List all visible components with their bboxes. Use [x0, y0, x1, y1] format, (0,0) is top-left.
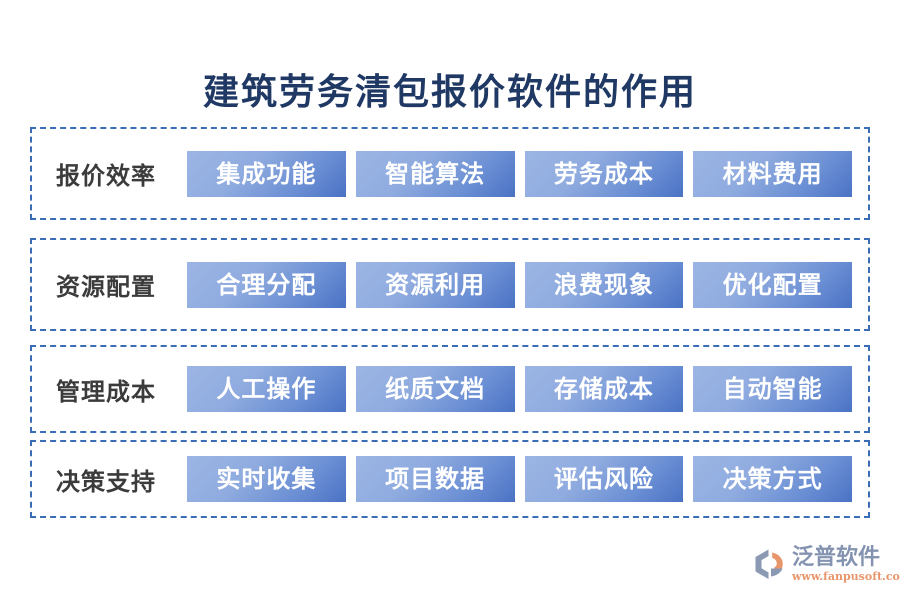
row-group-baojiaxiaolv: 报价效率 集成功能 智能算法 劳务成本 材料费用 — [30, 127, 870, 220]
row-group-guanlichengben: 管理成本 人工操作 纸质文档 存储成本 自动智能 — [30, 345, 870, 433]
row-items: 实时收集 项目数据 评估风险 决策方式 — [187, 456, 868, 502]
item-box[interactable]: 项目数据 — [356, 456, 515, 502]
logo-text: 泛普软件 www.fanpusoft.com — [792, 546, 900, 583]
item-box[interactable]: 智能算法 — [356, 151, 515, 197]
item-box[interactable]: 集成功能 — [187, 151, 346, 197]
row-label: 报价效率 — [32, 156, 187, 191]
item-box[interactable]: 自动智能 — [693, 366, 852, 412]
item-box[interactable]: 优化配置 — [693, 262, 852, 308]
item-box[interactable]: 决策方式 — [693, 456, 852, 502]
row-group-ziyuanpeizhi: 资源配置 合理分配 资源利用 浪费现象 优化配置 — [30, 238, 870, 331]
row-items: 人工操作 纸质文档 存储成本 自动智能 — [187, 366, 868, 412]
fanpu-brand-icon — [752, 546, 788, 582]
page-title: 建筑劳务清包报价软件的作用 — [0, 70, 900, 114]
row-label: 决策支持 — [32, 462, 187, 497]
item-box[interactable]: 合理分配 — [187, 262, 346, 308]
logo-brand-name: 泛普软件 — [792, 546, 900, 570]
row-label: 管理成本 — [32, 372, 187, 407]
item-box[interactable]: 实时收集 — [187, 456, 346, 502]
item-box[interactable]: 纸质文档 — [356, 366, 515, 412]
item-box[interactable]: 存储成本 — [525, 366, 684, 412]
logo-website-url: www.fanpusoft.com — [792, 570, 900, 583]
row-label: 资源配置 — [32, 267, 187, 302]
item-box[interactable]: 评估风险 — [525, 456, 684, 502]
row-items: 合理分配 资源利用 浪费现象 优化配置 — [187, 262, 868, 308]
row-group-juecezhichi: 决策支持 实时收集 项目数据 评估风险 决策方式 — [30, 440, 870, 518]
row-items: 集成功能 智能算法 劳务成本 材料费用 — [187, 151, 868, 197]
item-box[interactable]: 人工操作 — [187, 366, 346, 412]
item-box[interactable]: 劳务成本 — [525, 151, 684, 197]
infographic-page: 建筑劳务清包报价软件的作用 报价效率 集成功能 智能算法 劳务成本 材料费用 资… — [0, 0, 900, 600]
item-box[interactable]: 资源利用 — [356, 262, 515, 308]
item-box[interactable]: 材料费用 — [693, 151, 852, 197]
item-box[interactable]: 浪费现象 — [525, 262, 684, 308]
brand-logo[interactable]: 泛普软件 www.fanpusoft.com — [752, 540, 884, 588]
